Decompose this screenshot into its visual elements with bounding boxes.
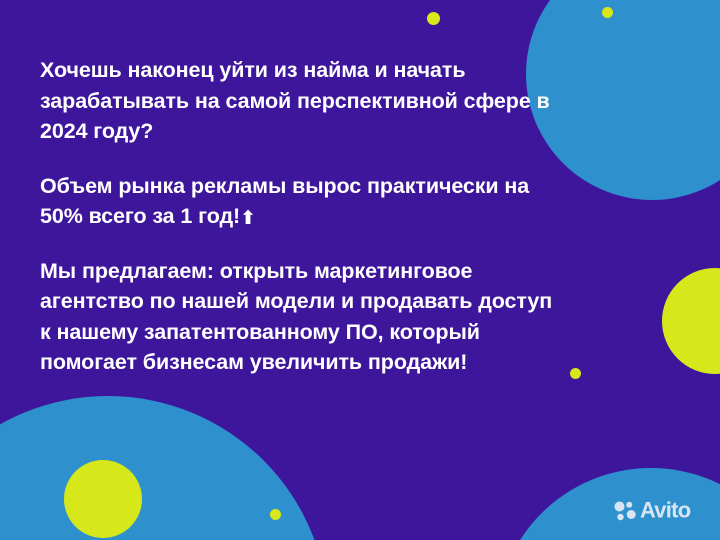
copy-paragraph-1: Хочешь наконец уйти из найма и начать за… xyxy=(40,55,560,147)
copy-paragraph-2: Объем рынка рекламы вырос практически на… xyxy=(40,171,560,232)
decorative-dot-top-center xyxy=(427,12,440,25)
decorative-circle-bottom-left xyxy=(0,396,328,540)
decorative-dot-bottom xyxy=(270,509,281,520)
copy-paragraph-2-text: Объем рынка рекламы вырос практически на… xyxy=(40,174,529,229)
arrow-up-icon: ⬆ xyxy=(240,209,256,228)
avito-bubbles-icon xyxy=(614,500,636,522)
copy-paragraph-3: Мы предлагаем: открыть маркетинговое аге… xyxy=(40,256,560,378)
decorative-dot-mid-right xyxy=(570,368,581,379)
svg-text:Avito: Avito xyxy=(640,499,691,522)
decorative-dot-top-right xyxy=(602,7,613,18)
banner-copy: Хочешь наконец уйти из найма и начать за… xyxy=(40,55,560,378)
promo-banner: Хочешь наконец уйти из найма и начать за… xyxy=(0,0,720,540)
avito-wordmark: Avito xyxy=(640,499,720,523)
decorative-circle-right-lime xyxy=(662,268,720,374)
decorative-circle-bottom-left-lime xyxy=(64,460,142,538)
avito-logo: Avito xyxy=(614,499,720,523)
